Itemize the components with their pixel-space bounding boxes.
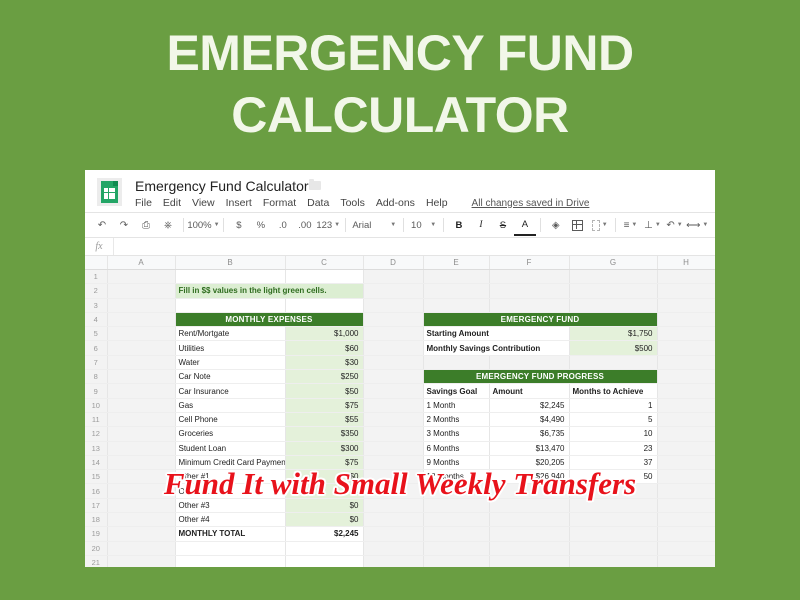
emergency-fund-header[interactable]: EMERGENCY FUND [423,312,657,326]
cell[interactable] [657,555,715,567]
expense-amount[interactable]: $60 [285,341,363,355]
cell[interactable] [107,355,175,369]
table-row: 20 [85,541,715,555]
progress-months[interactable]: 23 [569,441,657,455]
toolbar-divider [345,218,346,232]
cell[interactable] [285,541,363,555]
row-header[interactable]: 20 [85,541,107,555]
expense-label[interactable]: Car Note [175,370,285,384]
banner-title-line-1: EMERGENCY FUND [166,22,633,84]
expense-label[interactable]: Car Insurance [175,384,285,398]
cell[interactable] [107,412,175,426]
expense-label[interactable]: Rent/Mortgate [175,327,285,341]
cell[interactable] [569,355,657,369]
toolbar-divider [223,218,224,232]
expense-amount[interactable]: $50 [285,384,363,398]
star-icon[interactable]: ☆ [290,181,301,192]
cell[interactable] [363,370,423,384]
row-header[interactable]: 4 [85,312,107,326]
cell[interactable] [107,555,175,567]
expense-label[interactable]: Cell Phone [175,412,285,426]
menu-insert[interactable]: Insert [226,197,252,209]
document-title[interactable]: Emergency Fund Calculator [135,178,309,194]
folder-icon[interactable] [309,181,321,190]
zoom-selector[interactable]: 100%▼ [188,215,219,235]
expense-label[interactable]: Utilities [175,341,285,355]
table-row: 19 MONTHLY TOTAL $2,245 [85,527,715,541]
document-header: Emergency Fund Calculator ☆ File Edit Vi… [85,170,715,212]
progress-months[interactable]: 10 [569,427,657,441]
expense-amount[interactable]: $0 [285,513,363,527]
cell[interactable] [363,284,423,298]
cell[interactable] [489,270,569,284]
progress-amount[interactable]: $4,490 [489,412,569,426]
cell[interactable] [657,513,715,527]
cell[interactable] [657,270,715,284]
undo-icon[interactable]: ↶ [91,215,113,235]
column-header-a[interactable]: A [107,256,175,270]
table-row: 6 Utilities $60 Monthly Savings Contribu… [85,341,715,355]
cell[interactable] [175,541,285,555]
table-row: 9 Car Insurance $50 Savings Goal Amount … [85,384,715,398]
cell[interactable] [657,384,715,398]
cell[interactable] [107,284,175,298]
table-row: 11 Cell Phone $55 2 Months $4,490 5 [85,412,715,426]
toolbar: ↶ ↷ ⎙ ⎈ 100%▼ $ % .0 .00 123▼ Arial▼ 10▼… [85,212,715,238]
formula-bar: fx [85,238,715,256]
cell[interactable] [363,541,423,555]
column-header-c[interactable]: C [285,256,363,270]
font-value: Arial [352,220,371,231]
text-rotation-icon[interactable]: ⟷▼ [685,215,708,235]
cell[interactable] [657,427,715,441]
cell[interactable] [569,513,657,527]
sheet-table: A B C D E F G H 1 [85,256,715,567]
google-sheets-window: Emergency Fund Calculator ☆ File Edit Vi… [85,170,715,567]
menu-help[interactable]: Help [426,197,448,209]
formula-input[interactable] [114,238,715,255]
bold-icon[interactable]: B [448,215,470,235]
cell[interactable] [363,341,423,355]
cell[interactable] [363,427,423,441]
expense-amount[interactable]: $55 [285,412,363,426]
toolbar-divider [443,218,444,232]
cell[interactable] [363,513,423,527]
menu-addons[interactable]: Add-ons [376,197,415,209]
cell[interactable] [489,541,569,555]
row-header[interactable]: 1 [85,270,107,284]
cell[interactable] [423,555,489,567]
cell[interactable] [489,355,569,369]
font-selector[interactable]: Arial▼ [349,215,399,235]
cell[interactable] [107,341,175,355]
text-wrap-icon[interactable]: ↶▼ [663,215,685,235]
table-row: 1 [85,270,715,284]
cell[interactable] [363,312,423,326]
row-header[interactable]: 21 [85,555,107,567]
cell[interactable] [657,412,715,426]
cell[interactable] [363,270,423,284]
table-row: 4 MONTHLY EXPENSES EMERGENCY FUND [85,312,715,326]
cell[interactable] [569,298,657,312]
expense-amount[interactable]: $250 [285,370,363,384]
cell[interactable] [363,355,423,369]
text-color-icon[interactable]: A [514,214,536,236]
decrease-decimal-icon[interactable]: .0 [272,215,294,235]
cell[interactable] [569,270,657,284]
progress-amount[interactable]: $6,735 [489,427,569,441]
progress-goal[interactable]: 1 Month [423,398,489,412]
font-size-value: 10 [411,220,422,231]
column-header-h[interactable]: H [657,256,715,270]
cell[interactable] [657,527,715,541]
cell[interactable] [657,312,715,326]
toolbar-divider [183,218,184,232]
column-header-b[interactable]: B [175,256,285,270]
column-header-f[interactable]: F [489,256,569,270]
table-row: 10 Gas $75 1 Month $2,245 1 [85,398,715,412]
cell[interactable] [285,298,363,312]
cell[interactable] [657,298,715,312]
fund-amount[interactable]: $500 [569,341,657,355]
cell[interactable] [175,270,285,284]
cell[interactable] [423,541,489,555]
increase-decimal-icon[interactable]: .00 [294,215,316,235]
progress-amount[interactable]: $13,470 [489,441,569,455]
expense-amount[interactable]: $30 [285,355,363,369]
column-header-g[interactable]: G [569,256,657,270]
menu-file[interactable]: File [135,197,152,209]
column-header-row: A B C D E F G H [85,256,715,270]
redo-icon[interactable]: ↷ [113,215,135,235]
cell[interactable] [569,284,657,298]
cell[interactable] [657,327,715,341]
cell[interactable] [285,270,363,284]
emergency-fund-progress-header[interactable]: EMERGENCY FUND PROGRESS [423,370,657,384]
banner-title-line-2: CALCULATOR [231,84,569,146]
banner: EMERGENCY FUND CALCULATOR [0,0,800,168]
row-header[interactable]: 5 [85,327,107,341]
zoom-value: 100% [187,220,211,231]
row-header[interactable]: 10 [85,398,107,412]
number-format-value: 123 [316,220,332,231]
row-header[interactable]: 19 [85,527,107,541]
spreadsheet-grid[interactable]: A B C D E F G H 1 [85,256,715,567]
cell[interactable] [657,541,715,555]
column-header-e[interactable]: E [423,256,489,270]
progress-months[interactable]: 1 [569,398,657,412]
cell[interactable] [363,398,423,412]
cell[interactable] [423,513,489,527]
cell[interactable] [423,298,489,312]
menu-view[interactable]: View [192,197,215,209]
expense-label[interactable]: Other #4 [175,513,285,527]
overlay-caption: Fund It with Small Weekly Transfers [0,466,800,502]
table-row: 5 Rent/Mortgate $1,000 Starting Amount $… [85,327,715,341]
menu-format[interactable]: Format [263,197,296,209]
cell[interactable] [363,555,423,567]
expense-label[interactable]: Gas [175,398,285,412]
cell[interactable] [107,370,175,384]
cell[interactable] [107,527,175,541]
row-header[interactable]: 8 [85,370,107,384]
column-header-d[interactable]: D [363,256,423,270]
google-sheets-icon[interactable] [97,178,122,206]
row-header[interactable]: 7 [85,355,107,369]
font-size-selector[interactable]: 10▼ [408,215,439,235]
table-row: 3 [85,298,715,312]
progress-column-header[interactable]: Savings Goal [423,384,489,398]
expense-amount[interactable]: $300 [285,441,363,455]
cell[interactable] [423,527,489,541]
cell[interactable] [657,370,715,384]
cell[interactable] [107,441,175,455]
cell[interactable] [107,513,175,527]
cell[interactable] [657,441,715,455]
cell[interactable] [107,427,175,441]
cell[interactable] [569,527,657,541]
cell[interactable] [285,555,363,567]
cell[interactable] [107,398,175,412]
progress-goal[interactable]: 2 Months [423,412,489,426]
table-row: 18 Other #4 $0 [85,513,715,527]
cell[interactable] [107,298,175,312]
monthly-total-label[interactable]: MONTHLY TOTAL [175,527,285,541]
row-header[interactable]: 3 [85,298,107,312]
cell[interactable] [107,270,175,284]
cell[interactable] [107,384,175,398]
instruction-note[interactable]: Fill in $$ values in the light green cel… [175,284,363,298]
monthly-total-amount[interactable]: $2,245 [285,527,363,541]
menu-bar: File Edit View Insert Format Data Tools … [135,197,589,209]
cell[interactable] [489,527,569,541]
expense-amount[interactable]: $1,000 [285,327,363,341]
cell[interactable] [363,384,423,398]
cell[interactable] [363,327,423,341]
paint-format-icon[interactable]: ⎈ [157,215,179,235]
monthly-expenses-header[interactable]: MONTHLY EXPENSES [175,312,363,326]
expense-label[interactable]: Groceries [175,427,285,441]
expense-amount[interactable]: $350 [285,427,363,441]
number-format-selector[interactable]: 123▼ [316,215,341,235]
cell[interactable] [423,270,489,284]
progress-column-header[interactable]: Amount [489,384,569,398]
row-header[interactable]: 11 [85,412,107,426]
cell[interactable] [569,555,657,567]
cell[interactable] [107,541,175,555]
borders-icon[interactable] [567,215,589,235]
cell[interactable] [363,527,423,541]
fund-label[interactable]: Starting Amount [423,327,569,341]
row-header[interactable]: 2 [85,284,107,298]
percent-format-icon[interactable]: % [250,215,272,235]
select-all-corner[interactable] [85,256,107,270]
cell[interactable] [657,355,715,369]
currency-format-icon[interactable]: $ [228,215,250,235]
fx-icon: fx [85,238,114,255]
row-header[interactable]: 9 [85,384,107,398]
table-row: 2 Fill in $$ values in the light green c… [85,284,715,298]
print-icon[interactable]: ⎙ [135,215,157,235]
cell[interactable] [489,298,569,312]
toolbar-divider [615,218,616,232]
expense-amount[interactable]: $75 [285,398,363,412]
cell[interactable] [423,355,489,369]
progress-column-header[interactable]: Months to Achieve [569,384,657,398]
cell[interactable] [107,327,175,341]
toolbar-divider [540,218,541,232]
cell[interactable] [363,412,423,426]
cell[interactable] [175,555,285,567]
horizontal-align-icon[interactable]: ≡▼ [619,215,641,235]
save-status[interactable]: All changes saved in Drive [472,198,590,209]
cell[interactable] [657,398,715,412]
menu-data[interactable]: Data [307,197,329,209]
fill-color-icon[interactable]: ◈ [545,215,567,235]
cell[interactable] [569,541,657,555]
progress-goal[interactable]: 3 Months [423,427,489,441]
table-row: 12 Groceries $350 3 Months $6,735 10 [85,427,715,441]
cell[interactable] [363,441,423,455]
cell[interactable] [657,341,715,355]
table-row: 13 Student Loan $300 6 Months $13,470 23 [85,441,715,455]
cell[interactable] [363,298,423,312]
expense-label[interactable]: Student Loan [175,441,285,455]
strikethrough-icon[interactable]: S [492,215,514,235]
progress-goal[interactable]: 6 Months [423,441,489,455]
row-header[interactable]: 13 [85,441,107,455]
cell[interactable] [489,555,569,567]
progress-months[interactable]: 5 [569,412,657,426]
cell[interactable] [423,284,489,298]
table-row: 7 Water $30 [85,355,715,369]
cell[interactable] [657,284,715,298]
row-header[interactable]: 6 [85,341,107,355]
cell[interactable] [107,312,175,326]
menu-tools[interactable]: Tools [340,197,365,209]
menu-edit[interactable]: Edit [163,197,181,209]
merge-cells-icon[interactable]: ▼ [589,215,611,235]
cell[interactable] [175,298,285,312]
expense-label[interactable]: Water [175,355,285,369]
fund-amount[interactable]: $1,750 [569,327,657,341]
row-header[interactable]: 18 [85,513,107,527]
table-row: 8 Car Note $250 EMERGENCY FUND PROGRESS [85,370,715,384]
fund-label[interactable]: Monthly Savings Contribution [423,341,569,355]
cell[interactable] [489,284,569,298]
table-row: 21 [85,555,715,567]
italic-icon[interactable]: I [470,215,492,235]
progress-amount[interactable]: $2,245 [489,398,569,412]
vertical-align-icon[interactable]: ⊥▼ [641,215,663,235]
toolbar-divider [403,218,404,232]
row-header[interactable]: 12 [85,427,107,441]
cell[interactable] [489,513,569,527]
